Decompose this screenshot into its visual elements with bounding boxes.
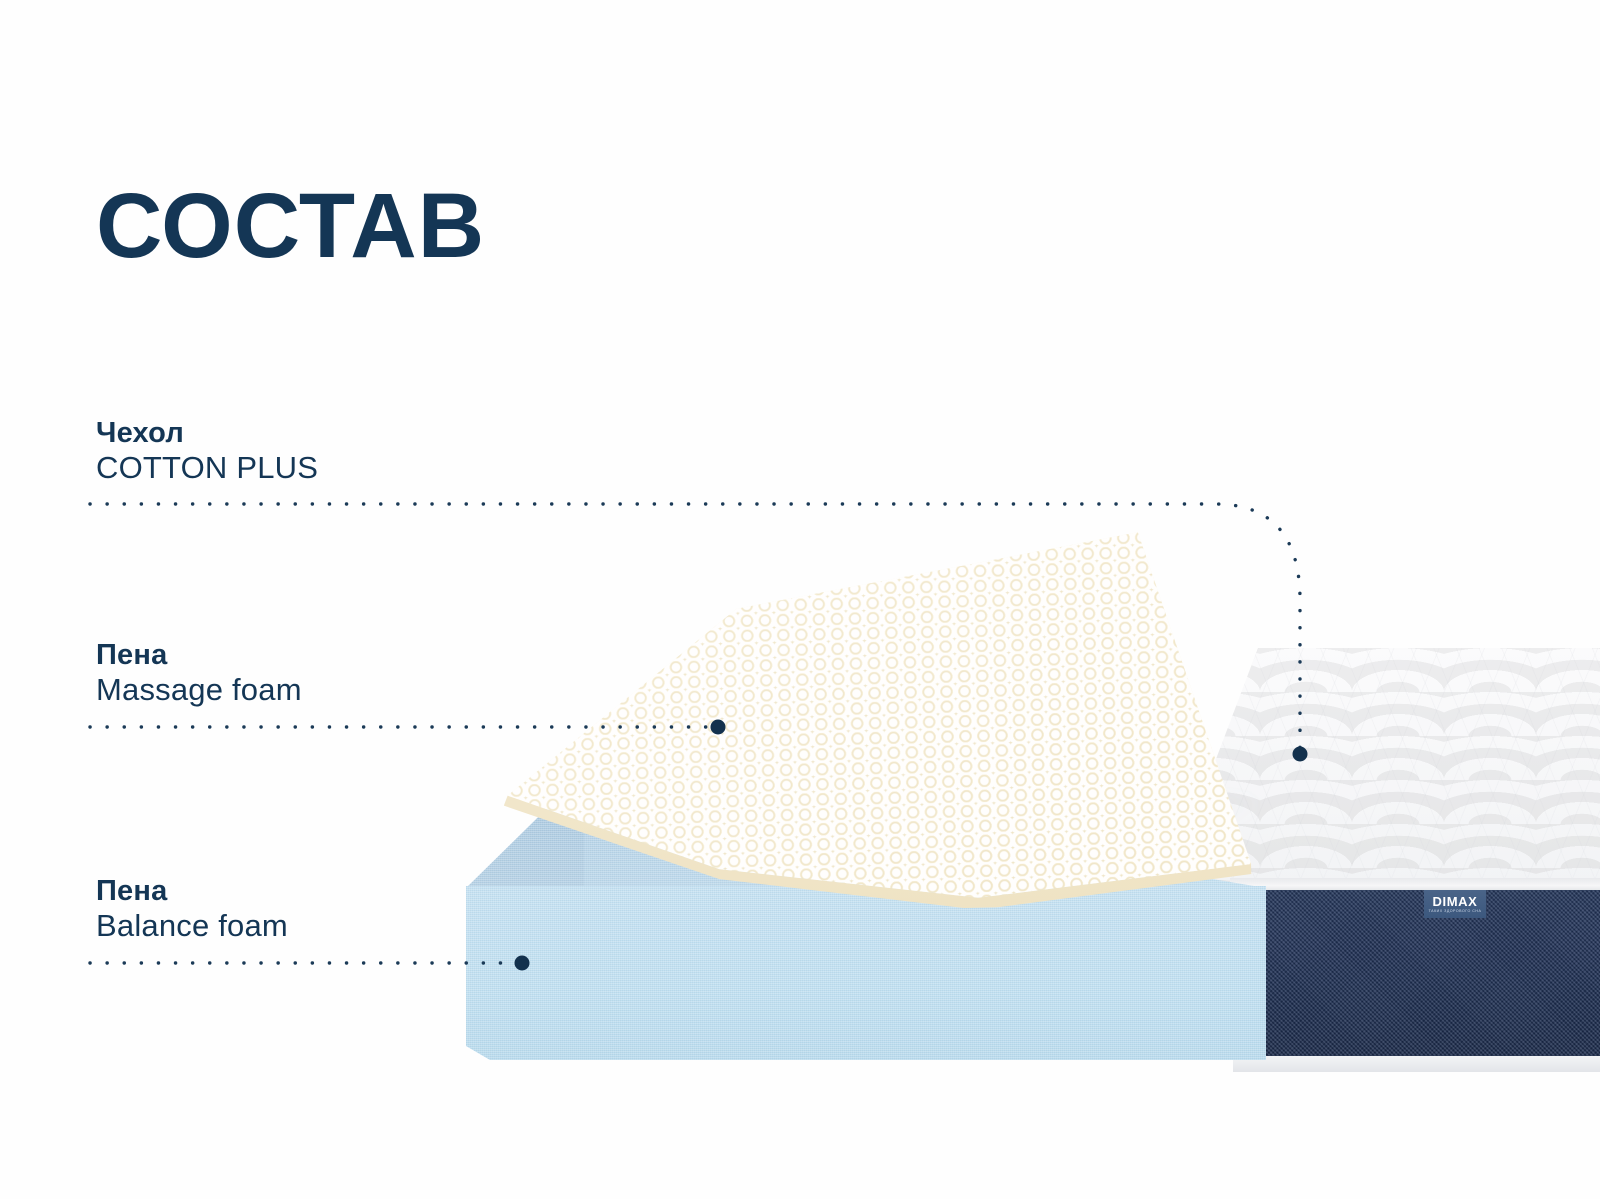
cover-bottom-piping: [1233, 1056, 1600, 1072]
label-balance-ru: Пена: [96, 874, 288, 908]
balance-foam-front-face: [466, 886, 1266, 1060]
dimax-brand-name: DIMAX: [1433, 895, 1478, 908]
composition-infographic: СОСТАВ DIMAX ТАКИХ ЗДОРОВОГО СНА Чехол C…: [0, 0, 1600, 1199]
label-massage-ru: Пена: [96, 638, 302, 672]
label-cover-ru: Чехол: [96, 416, 318, 450]
label-balance-foam: Пена Balance foam: [96, 874, 288, 945]
label-cover: Чехол COTTON PLUS: [96, 416, 318, 487]
massage-foam-surface: [484, 512, 1252, 918]
dimax-brand-tagline: ТАКИХ ЗДОРОВОГО СНА: [1429, 910, 1482, 913]
label-massage-en: Massage foam: [96, 672, 302, 709]
label-massage-foam: Пена Massage foam: [96, 638, 302, 709]
page-title: СОСТАВ: [96, 180, 485, 272]
label-cover-en: COTTON PLUS: [96, 450, 318, 487]
cover-side-band: [1233, 890, 1600, 1058]
dimax-brand-label: DIMAX ТАКИХ ЗДОРОВОГО СНА: [1424, 890, 1486, 918]
label-balance-en: Balance foam: [96, 908, 288, 945]
massage-foam-sheet: [488, 520, 1248, 910]
